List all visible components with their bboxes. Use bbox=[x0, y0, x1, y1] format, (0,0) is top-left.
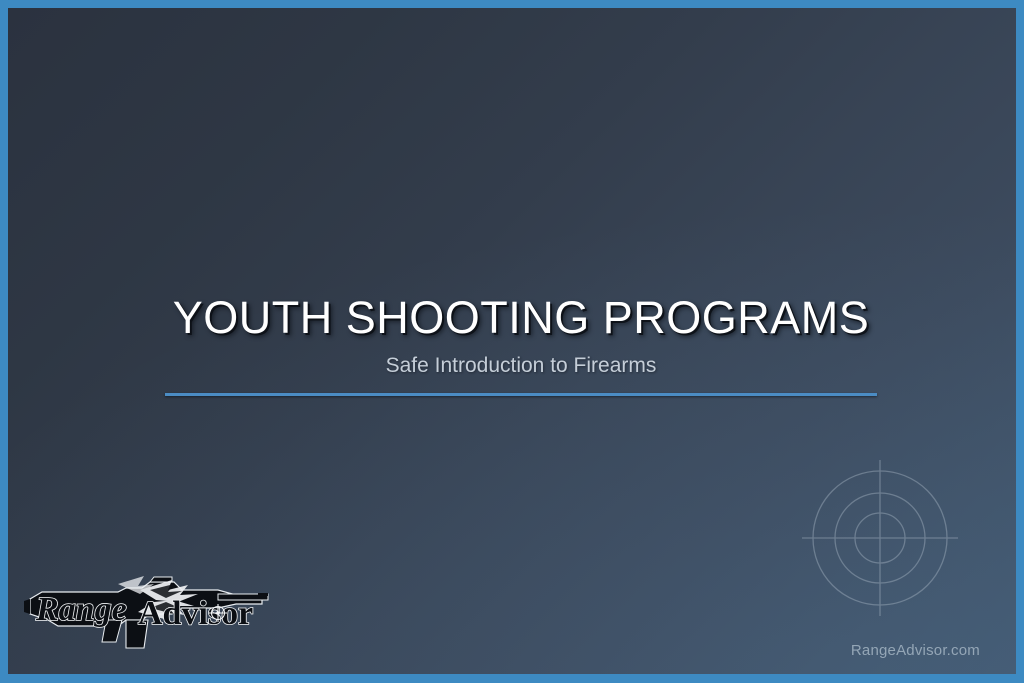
page-subtitle: Safe Introduction to Firearms bbox=[165, 353, 877, 378]
footer-url: RangeAdvisor.com bbox=[851, 642, 980, 659]
brand-logo: Range Advisor bbox=[22, 568, 274, 652]
page-title: YOUTH SHOOTING PROGRAMS bbox=[165, 294, 877, 342]
title-block: YOUTH SHOOTING PROGRAMS Safe Introductio… bbox=[165, 294, 877, 396]
slide-canvas: YOUTH SHOOTING PROGRAMS Safe Introductio… bbox=[8, 8, 1016, 674]
logo-wordmark: Range Advisor bbox=[35, 591, 253, 632]
svg-text:Advisor: Advisor bbox=[138, 595, 253, 632]
svg-text:Range: Range bbox=[35, 591, 127, 628]
presentation-slide: YOUTH SHOOTING PROGRAMS Safe Introductio… bbox=[0, 0, 1024, 683]
crosshair-target-icon bbox=[796, 454, 964, 622]
title-divider-rule bbox=[165, 393, 877, 396]
